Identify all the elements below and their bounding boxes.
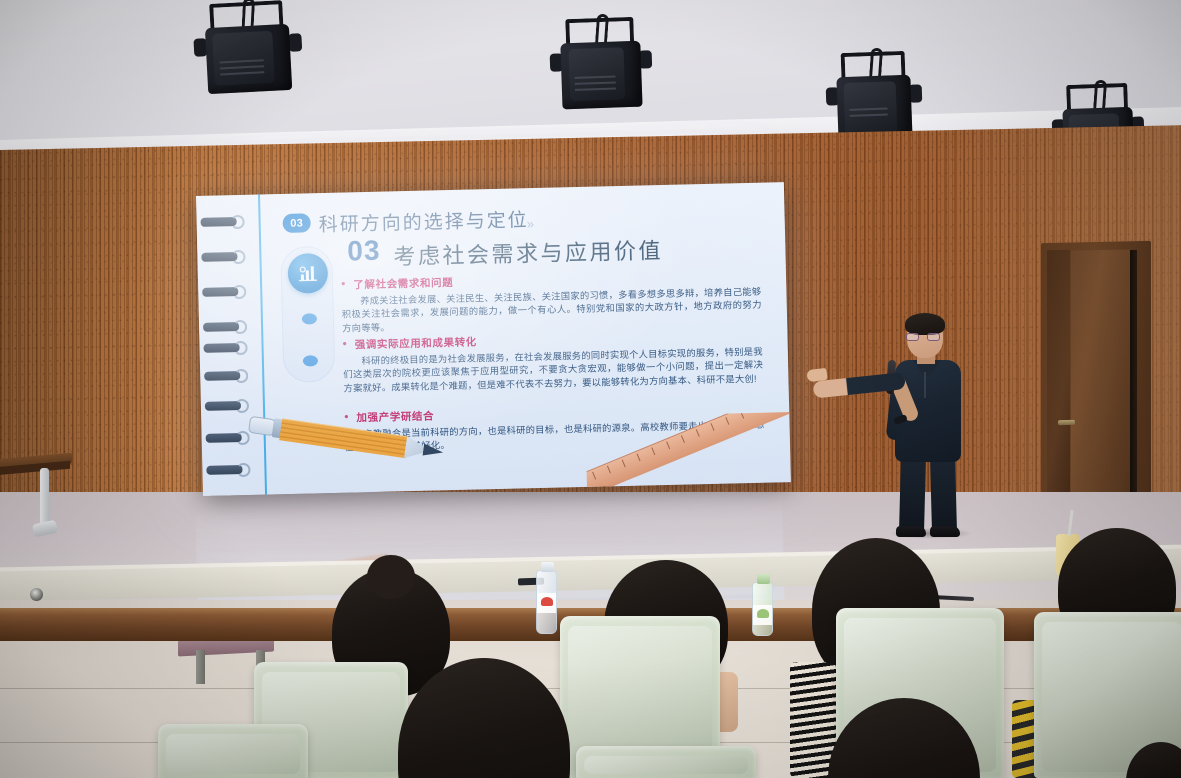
binding-ring [203, 322, 249, 332]
bottle-brand-mark [757, 609, 769, 618]
lecture-hall-scene: 文字 文字内容 文字 03 科研方向的选择与定位 » [0, 0, 1181, 778]
projection-screen: 03 科研方向的选择与定位 » 03 考虑社会 [196, 182, 791, 496]
bar-chart-icon [287, 253, 328, 294]
presenter-legs [899, 456, 957, 532]
slide-icon-card [280, 246, 335, 383]
block-body: 科研的终极目的是为社会发展服务，在社会发展服务的同时实现个人目标实现的服务，特别… [343, 346, 764, 396]
light-knob-right [288, 33, 302, 52]
shoe-right [930, 526, 960, 537]
slide-heading-title: 考虑社会需求与应用价值 [393, 233, 663, 271]
chair-front-2 [576, 746, 756, 778]
presenter [865, 316, 995, 536]
door-handle[interactable] [1058, 420, 1075, 425]
chair-front-1 [158, 724, 308, 778]
bottle-brand-mark [541, 597, 553, 606]
side-table-leg [40, 468, 49, 528]
light-lens [213, 31, 275, 86]
stage-light-1 [198, 0, 299, 96]
slide-section-title: 科研方向的选择与定位 [318, 205, 529, 237]
polo-placket [924, 372, 926, 398]
bottle-cap [541, 562, 554, 572]
block-heading: 了解社会需求和问题 [353, 275, 453, 292]
bench-leg [196, 650, 205, 684]
bullet-icon: • [342, 337, 347, 350]
slide-block-2: • 强调实际应用和成果转化 科研的终极目的是为社会发展服务，在社会发展服务的同时… [342, 328, 763, 396]
binding-ring [203, 343, 249, 353]
binding-ring [201, 252, 247, 262]
binding-ring [201, 217, 247, 227]
slide-dot-2 [303, 355, 318, 366]
bullet-icon: • [341, 278, 346, 291]
shoe-left [896, 526, 926, 537]
slide-dot-1 [302, 313, 317, 324]
light-lens [568, 47, 626, 101]
block-heading: 强调实际应用和成果转化 [355, 334, 477, 352]
chevron-right-icon: » [527, 216, 533, 231]
block-heading: 加强产学研结合 [356, 408, 434, 425]
spiral-binding [196, 195, 263, 496]
slide-block-1: • 了解社会需求和问题 养成关注社会发展、关注民生、关注民族、关注国家的习惯，多… [341, 268, 762, 336]
bullet-icon: • [344, 410, 349, 423]
stage-light-2 [554, 16, 647, 109]
eyeglasses-icon [906, 333, 940, 341]
wall-shadow [0, 146, 180, 550]
presenter-hair [905, 313, 945, 335]
stage-light-3 [831, 51, 918, 140]
table-caster [30, 588, 43, 601]
binding-ring [206, 433, 252, 443]
binding-ring [204, 371, 250, 381]
slide-surface: 03 科研方向的选择与定位 » 03 考虑社会 [196, 182, 791, 496]
presenter-hand-left [806, 368, 827, 382]
water-bottle-green[interactable] [752, 582, 773, 636]
desk-surface-back [0, 608, 1181, 615]
binding-ring [206, 465, 252, 475]
bottle-cap [757, 574, 770, 584]
slide-section-badge: 03 [282, 213, 310, 233]
water-bottle-clear[interactable] [536, 570, 557, 634]
binding-ring [205, 401, 251, 411]
slide-heading-number: 03 [347, 235, 381, 268]
binding-ring [202, 287, 248, 297]
